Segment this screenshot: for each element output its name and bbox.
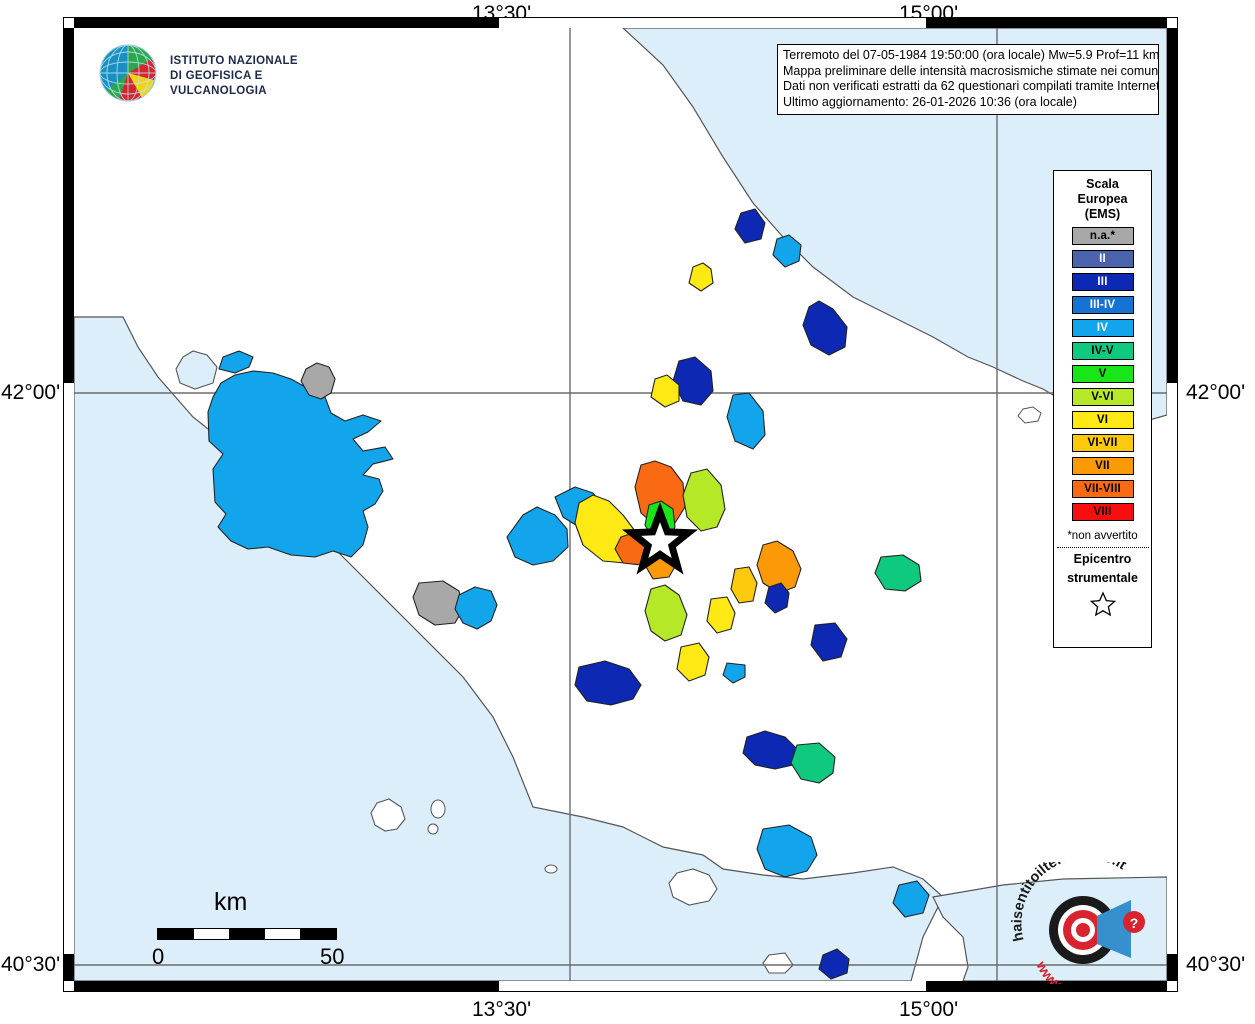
scale-bar: km 0 50 bbox=[152, 888, 367, 978]
event-info-box: Terremoto del 07-05-1984 19:50:00 (ora l… bbox=[777, 44, 1159, 115]
legend-epicenter-label-2: strumentale bbox=[1067, 571, 1138, 586]
info-line-2: Mappa preliminare delle intensità macros… bbox=[783, 64, 1153, 80]
legend-epicenter-label-1: Epicentro bbox=[1074, 552, 1132, 567]
legend-swatch-viii[interactable]: VIII bbox=[1072, 503, 1134, 521]
epicenter-star-icon bbox=[1089, 590, 1117, 618]
axis-label-right-40: 40°30' bbox=[1186, 953, 1245, 977]
legend-swatch-iv[interactable]: IV bbox=[1072, 319, 1134, 337]
legend-swatch-vii-viii[interactable]: VII-VIII bbox=[1072, 480, 1134, 498]
scale-min-label: 0 bbox=[152, 944, 164, 970]
map-frame: Terremoto del 07-05-1984 19:50:00 (ora l… bbox=[63, 17, 1178, 992]
info-line-3: Dati non verificati estratti da 62 quest… bbox=[783, 79, 1153, 95]
legend-swatch-iv-v[interactable]: IV-V bbox=[1072, 342, 1134, 360]
legend-swatch-iii-iv[interactable]: III-IV bbox=[1072, 296, 1134, 314]
svg-text:?: ? bbox=[1130, 915, 1139, 931]
scale-max-label: 50 bbox=[320, 944, 344, 970]
axis-label-left-42: 42°00' bbox=[1, 381, 60, 405]
ingv-logo: ISTITUTO NAZIONALE DI GEOFISICA E VULCAN… bbox=[94, 42, 334, 104]
scale-bar-graphic bbox=[157, 928, 337, 940]
axis-label-right-42: 42°00' bbox=[1186, 381, 1245, 405]
legend-swatch-vi-vii[interactable]: VI-VII bbox=[1072, 434, 1134, 452]
legend-swatch-vii[interactable]: VII bbox=[1072, 457, 1134, 475]
legend-swatch-ii[interactable]: II bbox=[1072, 250, 1134, 268]
hsit-text-bottom: www. bbox=[1033, 958, 1066, 984]
legend-panel: Scala Europea (EMS) n.a.*IIIIIIII-IVIVIV… bbox=[1053, 170, 1152, 648]
island-ventotene bbox=[545, 865, 557, 873]
info-line-1: Terremoto del 07-05-1984 19:50:00 (ora l… bbox=[783, 48, 1153, 64]
legend-swatch-iii[interactable]: III bbox=[1072, 273, 1134, 291]
legend-footnote: *non avvertito bbox=[1067, 530, 1137, 542]
ingv-logo-text: ISTITUTO NAZIONALE DI GEOFISICA E VULCAN… bbox=[170, 54, 334, 99]
axis-label-bottom-right: 15°00' bbox=[899, 998, 958, 1022]
hsit-logo-icon: ? haisentitoilterremoto.it www. bbox=[1005, 862, 1165, 984]
legend-title-3: (EMS) bbox=[1085, 207, 1120, 222]
legend-swatch-v[interactable]: V bbox=[1072, 365, 1134, 383]
info-line-4: Ultimo aggiornamento: 26-01-2026 10:36 (… bbox=[783, 95, 1153, 111]
map-canvas bbox=[63, 17, 1178, 992]
legend-swatch-v-vi[interactable]: V-VI bbox=[1072, 388, 1134, 406]
legend-swatch-list: n.a.*IIIIIIII-IVIVIV-VVV-VIVIVI-VIIVIIVI… bbox=[1072, 222, 1134, 521]
legend-swatch-vi[interactable]: VI bbox=[1072, 411, 1134, 429]
legend-title-1: Scala bbox=[1086, 177, 1119, 192]
ingv-line-2: DI GEOFISICA E VULCANOLOGIA bbox=[170, 69, 334, 99]
scale-unit-label: km bbox=[214, 888, 247, 917]
map-page: 13°30' 15°00' 13°30' 15°00' 42°00' 40°30… bbox=[0, 0, 1255, 1024]
svg-text:www.: www. bbox=[1033, 958, 1066, 984]
ingv-globe-icon bbox=[94, 42, 166, 104]
island-palmarola bbox=[431, 800, 445, 818]
legend-divider bbox=[1057, 547, 1149, 548]
ingv-line-1: ISTITUTO NAZIONALE bbox=[170, 54, 334, 69]
haisentitoilterremoto-logo: ? haisentitoilterremoto.it www. bbox=[1005, 862, 1165, 984]
legend-title-2: Europea bbox=[1077, 192, 1127, 207]
axis-label-left-40: 40°30' bbox=[1, 953, 60, 977]
island-zannone bbox=[428, 824, 438, 834]
axis-label-bottom-left: 13°30' bbox=[472, 998, 531, 1022]
legend-swatch-n-a-[interactable]: n.a.* bbox=[1072, 227, 1134, 245]
